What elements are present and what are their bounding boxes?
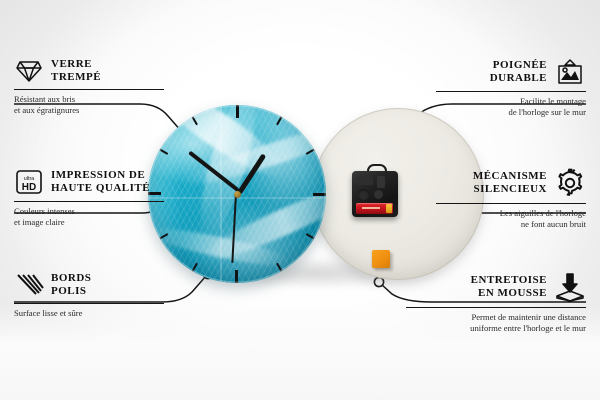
feature-title-line2: EN MOUSSE (471, 287, 547, 300)
battery-terminal (386, 204, 392, 213)
feature-sub-line2: de l'horloge sur le mur (436, 107, 586, 118)
feature-rule (14, 89, 164, 90)
feature-title-line2: HAUTE QUALITÉ (51, 182, 150, 195)
feature-bords-polis: BORDS POLIS Surface lisse et sûre (14, 272, 164, 319)
feature-sub-line1: Permet de maintenir une distance (406, 312, 586, 323)
feature-entretoise-en-mousse: ENTRETOISE EN MOUSSE Permet de maintenir… (406, 272, 586, 334)
svg-text:HD: HD (22, 182, 36, 193)
feature-title-line1: IMPRESSION DE (51, 169, 150, 182)
mechanism-detail (374, 190, 383, 199)
mechanism-detail (377, 176, 385, 188)
feature-title-line2: POLIS (51, 285, 91, 298)
feature-impression-haute-qualite: ultra HD IMPRESSION DE HAUTE QUALITÉ Cou… (14, 168, 164, 228)
feature-sub-line2: et aux égratignures (14, 105, 164, 116)
feature-rule (436, 203, 586, 204)
battery (356, 203, 393, 214)
feature-sub-line2: et image claire (14, 217, 164, 228)
mechanism-detail (358, 189, 369, 200)
feature-sub-line1: Surface lisse et sûre (14, 308, 164, 319)
clock-front-view (148, 105, 326, 283)
feature-rule (14, 201, 164, 202)
mechanism-detail (357, 177, 373, 185)
feature-title-line2: SILENCIEUX (473, 183, 547, 196)
feature-sub-line2: ne font aucun bruit (436, 219, 586, 230)
feature-title-line2: DURABLE (490, 72, 547, 85)
feature-sub-line1: Les aiguilles de l'horloge (436, 208, 586, 219)
diamond-icon (14, 58, 44, 84)
ultra-hd-icon: ultra HD (14, 168, 44, 196)
foam-spacer (372, 250, 390, 268)
feature-title-line1: ENTRETOISE (471, 274, 547, 287)
feature-sub-line1: Résistant aux bris (14, 94, 164, 105)
feature-title-line1: VERRE (51, 58, 101, 71)
feature-rule (14, 303, 164, 304)
battery-stripe (362, 207, 380, 209)
feature-title-line1: MÉCANISME (473, 170, 547, 183)
clock-front-rim (148, 105, 326, 283)
feature-rule (436, 91, 586, 92)
feature-verre-trempe: VERRE TREMPÉ Résistant aux bris et aux é… (14, 58, 164, 116)
foam-spacer-icon (554, 272, 586, 302)
mechanism-body (352, 171, 398, 217)
feature-sub-line1: Couleurs intenses (14, 206, 164, 217)
feature-sub-line2: uniforme entre l'horloge et le mur (406, 323, 586, 334)
feature-title-line1: POIGNÉE (490, 59, 547, 72)
clock-mechanism (352, 171, 398, 217)
gear-icon (554, 168, 586, 198)
feature-title-line1: BORDS (51, 272, 91, 285)
polished-edges-icon (14, 272, 44, 298)
feature-mecanisme-silencieux: MÉCANISME SILENCIEUX Les aiguilles de l'… (436, 168, 586, 230)
hanging-frame-icon (554, 58, 586, 86)
feature-rule (406, 307, 586, 308)
feature-sub-line1: Facilite le montage (436, 96, 586, 107)
feature-poignee-durable: POIGNÉE DURABLE Facilite le montage de l… (436, 58, 586, 118)
infographic-canvas: VERRE TREMPÉ Résistant aux bris et aux é… (0, 0, 600, 400)
feature-title-line2: TREMPÉ (51, 71, 101, 84)
